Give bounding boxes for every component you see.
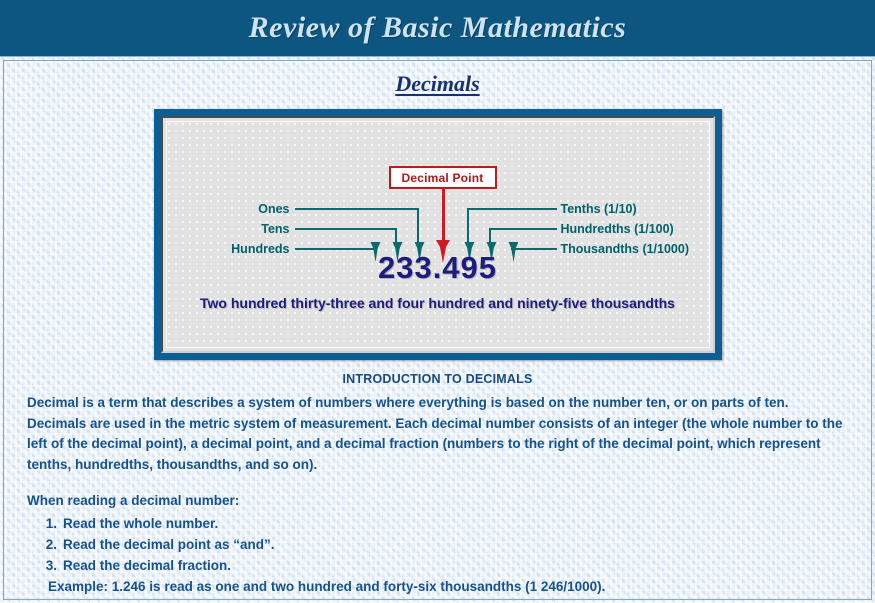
- list-item-text: Read the decimal fraction.: [63, 558, 231, 573]
- app-header: Review of Basic Mathematics: [0, 0, 875, 57]
- list-item: 3. Read the decimal fraction.: [63, 555, 848, 576]
- list-item: 2. Read the decimal point as “and”.: [63, 534, 848, 555]
- label-ones: Ones: [222, 202, 290, 216]
- list-item-text: Read the whole number.: [63, 516, 218, 531]
- list-item-number: 1.: [37, 513, 57, 534]
- label-tens: Tens: [222, 222, 290, 236]
- paragraph-spacer: [21, 475, 854, 491]
- content-page: Decimals Decimal Point Ones Tens Hundred…: [0, 57, 875, 603]
- connector-ones-h: [295, 208, 419, 210]
- connector-hundredths-h: [489, 228, 557, 230]
- connector-tenths-h: [467, 208, 557, 210]
- prose-heading: INTRODUCTION TO DECIMALS: [21, 372, 854, 386]
- decimal-number: 233.495: [167, 250, 709, 286]
- label-hundredths: Hundredths (1/100): [561, 222, 674, 236]
- decimal-number-words: Two hundred thirty-three and four hundre…: [167, 295, 709, 311]
- list-item-text: Read the decimal point as “and”.: [63, 537, 275, 552]
- label-tenths: Tenths (1/10): [561, 202, 637, 216]
- connector-tenths-v: [467, 208, 469, 244]
- section-heading: Decimals: [21, 71, 854, 97]
- list-item-number: 3.: [37, 555, 57, 576]
- list-item-number: 2.: [37, 534, 57, 555]
- reading-steps-list: 1. Read the whole number. 2. Read the de…: [21, 513, 854, 576]
- decimal-point-stem: [442, 189, 445, 244]
- decimal-place-value-diagram: Decimal Point Ones Tens Hundreds: [154, 109, 722, 360]
- decimal-point-callout: Decimal Point: [389, 166, 497, 189]
- prose-section: INTRODUCTION TO DECIMALS Decimal is a te…: [21, 372, 854, 597]
- steps-lead-in: When reading a decimal number:: [21, 491, 854, 511]
- page-title: Review of Basic Mathematics: [249, 11, 627, 45]
- connector-ones-v: [417, 208, 419, 244]
- connector-tens-h: [295, 228, 397, 230]
- example-line: Example: 1.246 is read as one and two hu…: [21, 576, 854, 597]
- diagram-canvas: Decimal Point Ones Tens Hundreds: [166, 121, 710, 348]
- diagram-mat: Decimal Point Ones Tens Hundreds: [161, 116, 715, 353]
- list-item: 1. Read the whole number.: [63, 513, 848, 534]
- intro-paragraph: Decimal is a term that describes a syste…: [21, 393, 854, 475]
- figure-container: Decimal Point Ones Tens Hundreds: [21, 109, 854, 360]
